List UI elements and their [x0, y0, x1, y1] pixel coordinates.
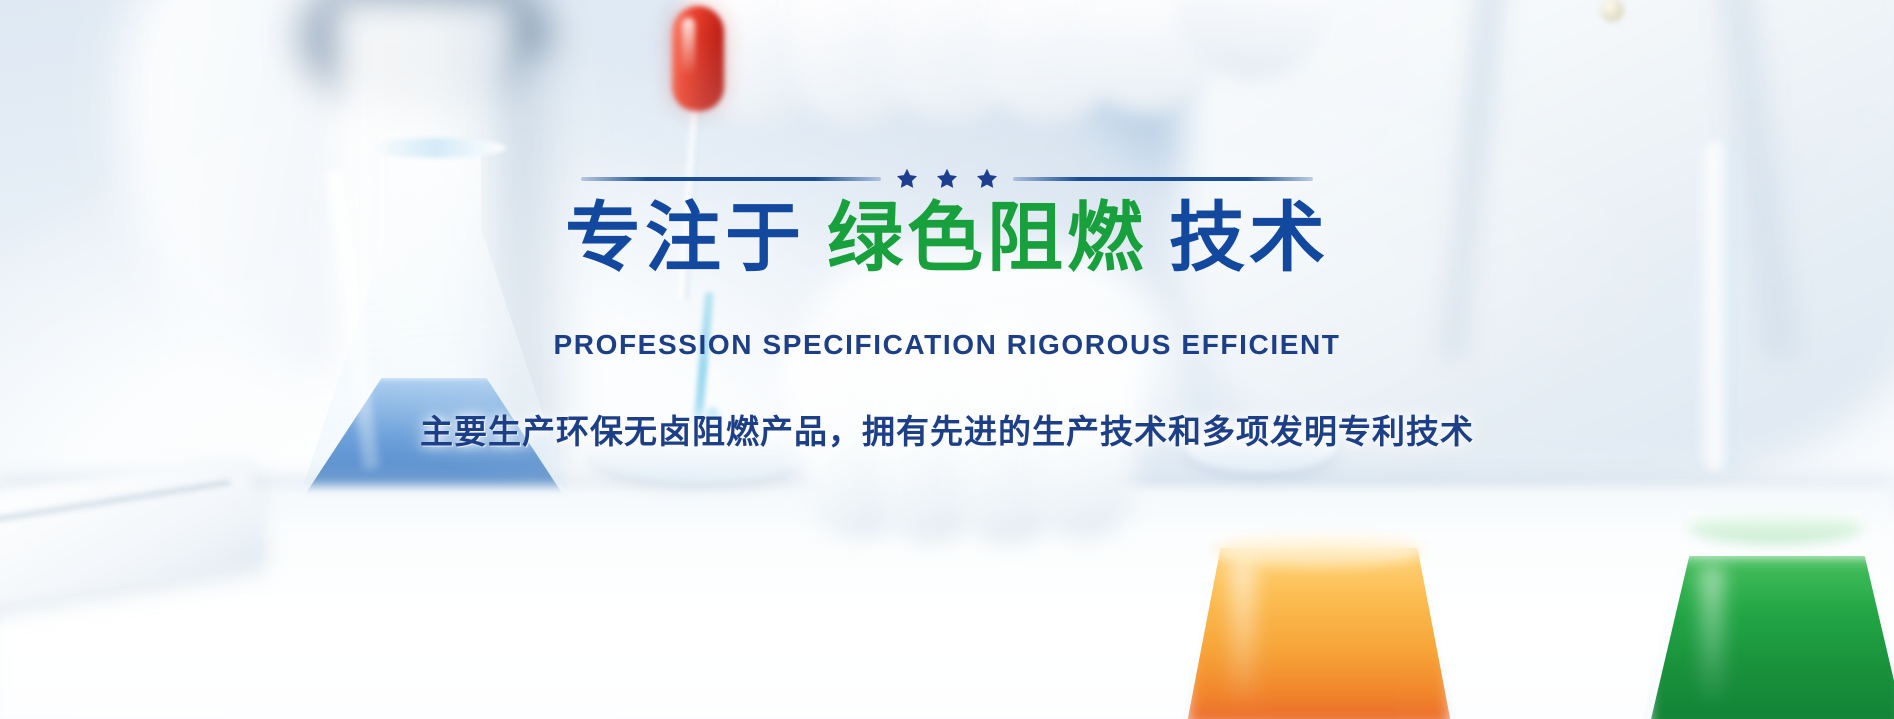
banner-headline: 专注于绿色阻燃技术: [0, 198, 1894, 279]
divider-rule-right: [1013, 177, 1313, 181]
star-icon: [975, 167, 999, 191]
headline-part-1: 专注于: [565, 193, 805, 282]
divider-rule-left: [581, 177, 881, 181]
hero-banner: 专注于绿色阻燃技术 PROFESSION SPECIFICATION RIGOR…: [0, 0, 1894, 719]
decorative-divider: [0, 166, 1894, 192]
headline-part-3: 技术: [1169, 193, 1329, 282]
banner-content: 专注于绿色阻燃技术 PROFESSION SPECIFICATION RIGOR…: [0, 166, 1894, 453]
banner-tagline-chinese: 主要生产环保无卤阻燃产品，拥有先进的生产技术和多项发明专利技术: [0, 405, 1894, 453]
star-group: [895, 167, 999, 191]
star-icon: [935, 167, 959, 191]
banner-subtitle-english: PROFESSION SPECIFICATION RIGOROUS EFFICI…: [0, 329, 1894, 361]
headline-part-2: 绿色阻燃: [827, 193, 1147, 282]
star-icon: [895, 167, 919, 191]
